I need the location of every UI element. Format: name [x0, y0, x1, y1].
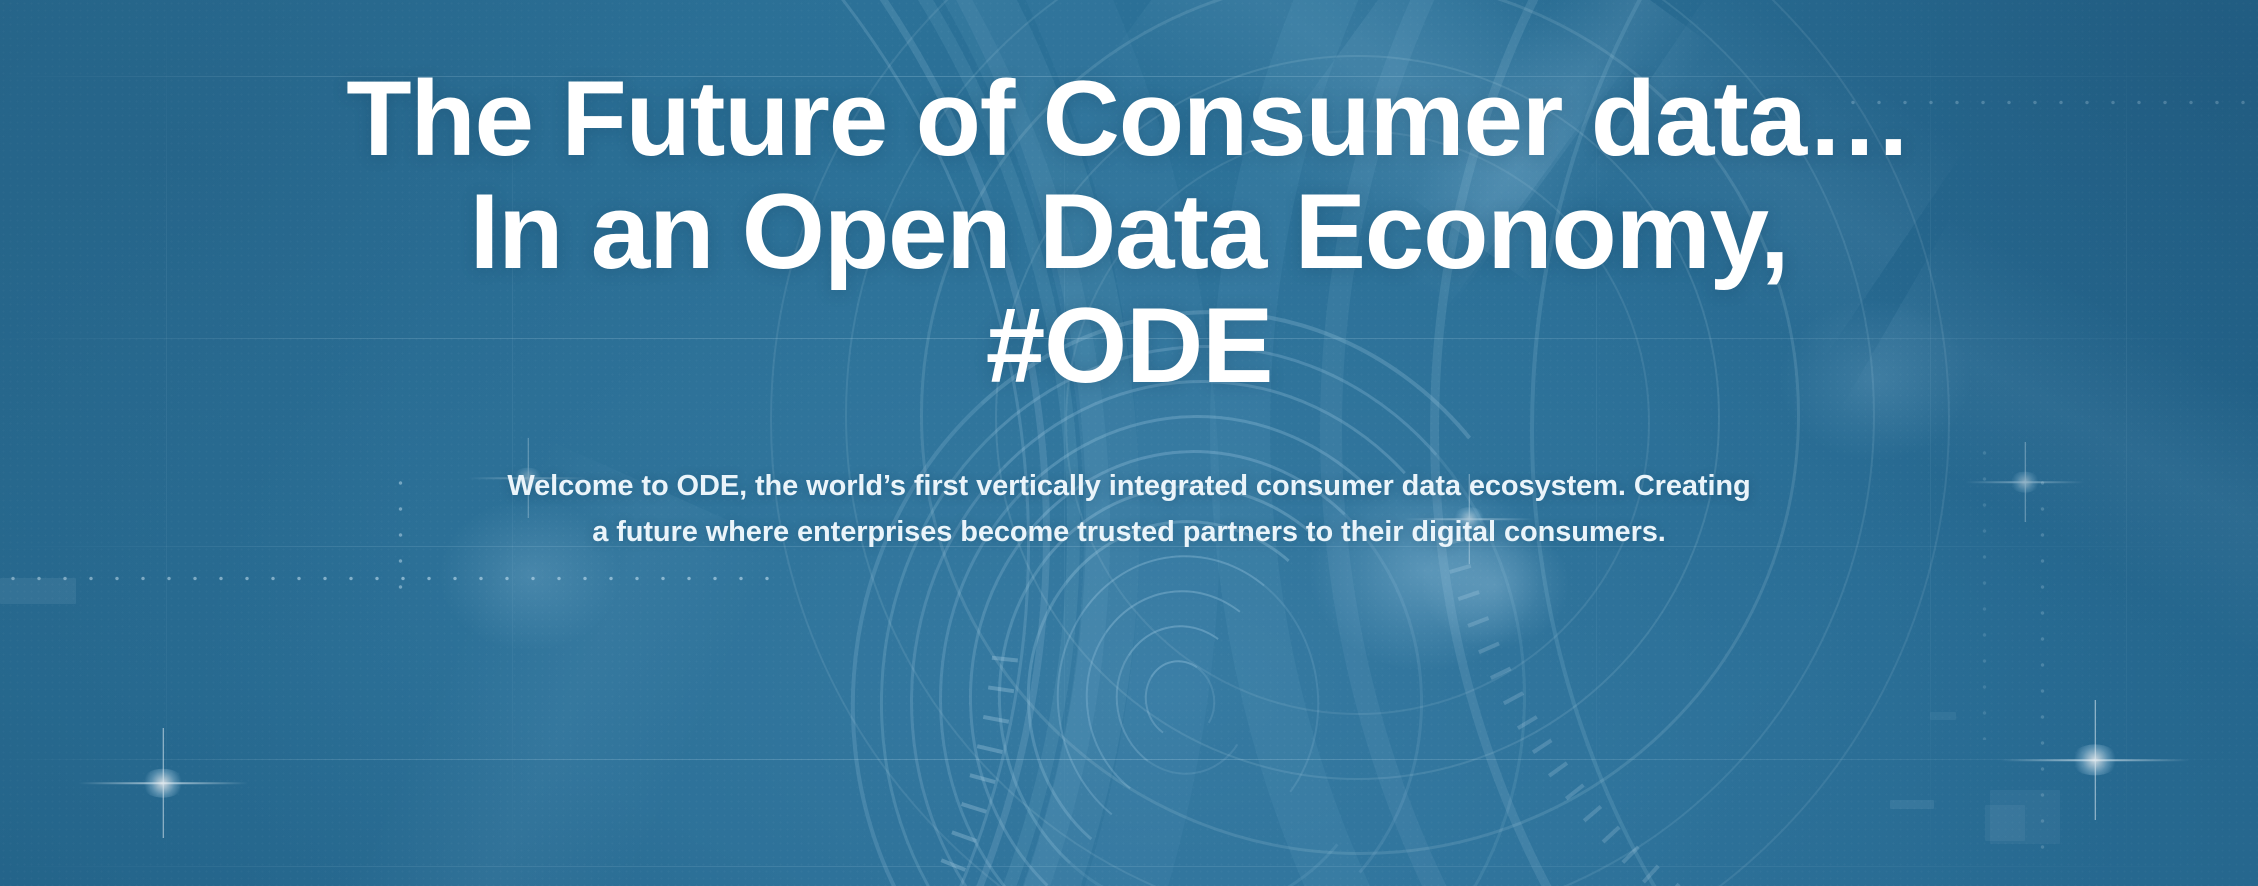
page-title: The Future of Consumer data… In an Open … [0, 62, 2258, 402]
headline-line-1: The Future of Consumer data… [6, 62, 2252, 175]
hero-subtitle: Welcome to ODE, the world’s first vertic… [504, 464, 1754, 556]
headline-line-2: In an Open Data Economy, [6, 175, 2252, 288]
hero-banner: The Future of Consumer data… In an Open … [0, 0, 2258, 886]
hero-content: The Future of Consumer data… In an Open … [0, 0, 2258, 886]
headline-line-3: #ODE [6, 289, 2252, 402]
